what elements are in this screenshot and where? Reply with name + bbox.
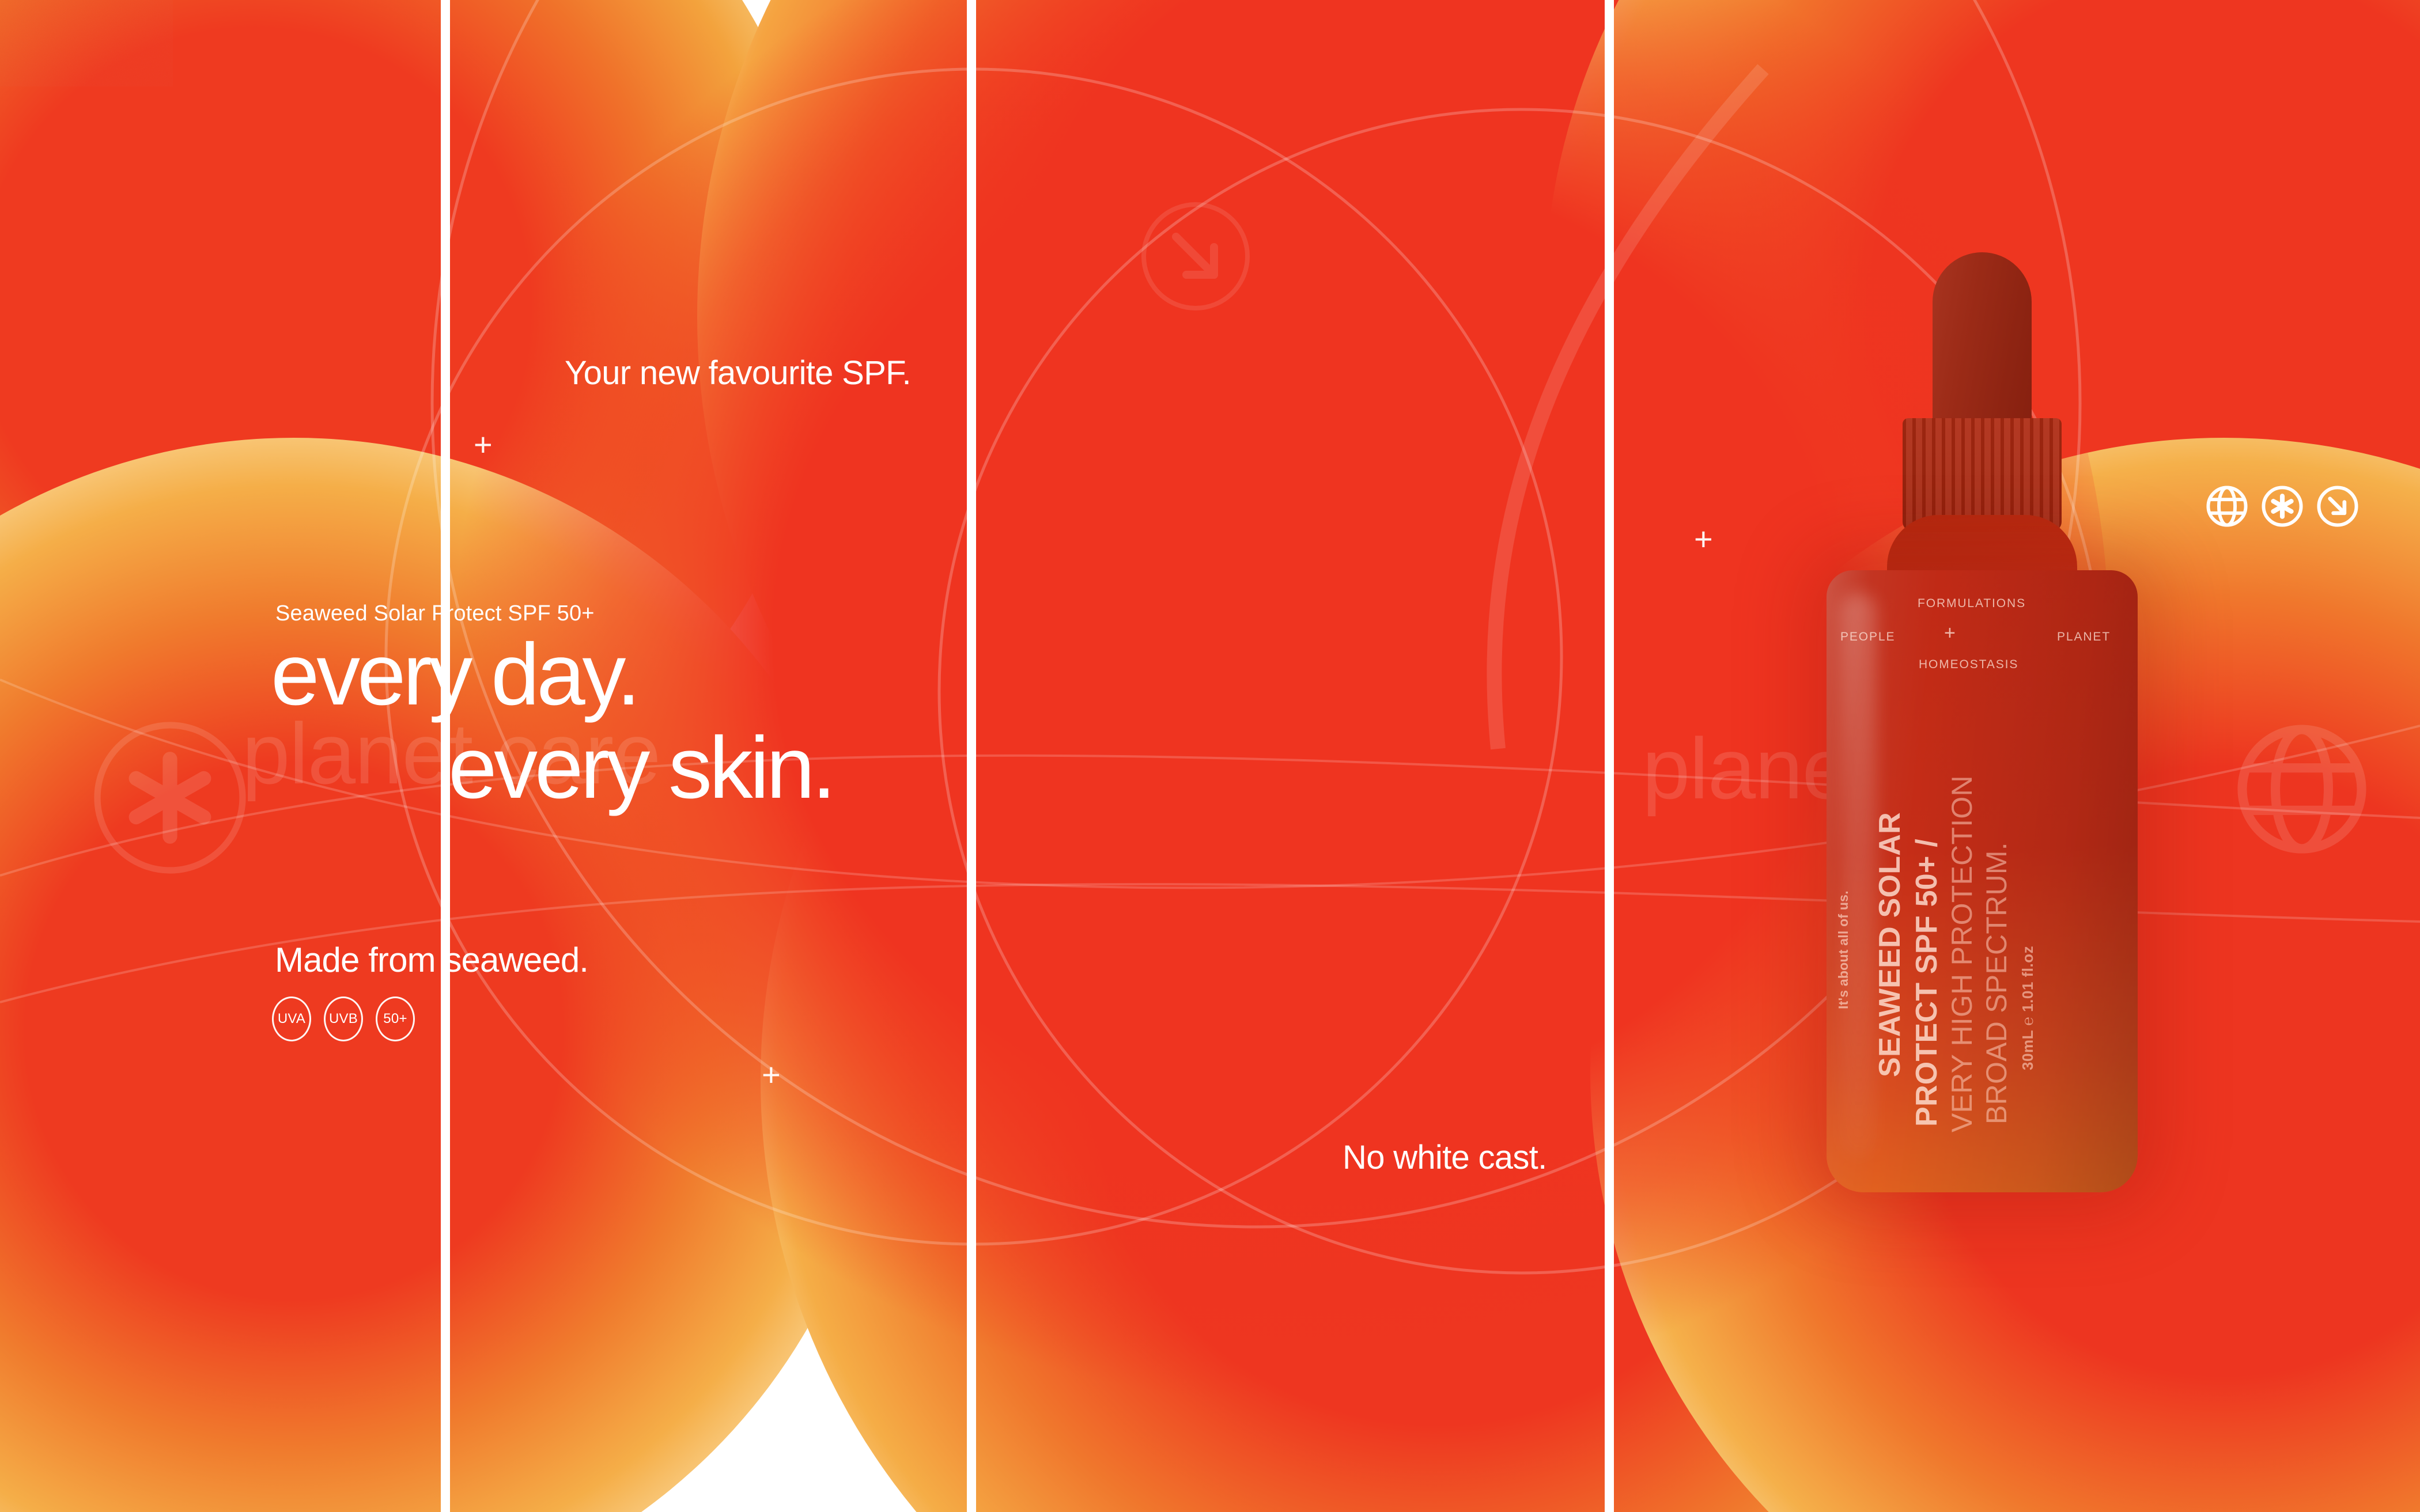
tagline-top-right: Your new favourite SPF. <box>565 354 911 392</box>
poster-canvas: planet care planet care <box>0 0 2420 1512</box>
asterisk-icon[interactable] <box>2261 485 2304 528</box>
hero-line-1: every day. <box>271 629 638 721</box>
hero-line-2: every skin. <box>448 722 833 814</box>
panel-gutter-2 <box>967 0 976 1512</box>
arrow-down-right-icon[interactable] <box>2316 485 2359 528</box>
globe-icon[interactable] <box>2206 485 2248 528</box>
icon-cluster <box>2206 485 2359 528</box>
plus-mark-1: + <box>474 429 493 461</box>
tagline-made-from-seaweed: Made from seaweed. <box>275 940 588 980</box>
tagline-no-white-cast: No white cast. <box>1343 1138 1547 1177</box>
background-gradient-field <box>0 0 2420 1512</box>
plus-mark-2: + <box>762 1059 781 1091</box>
badge-uvb[interactable]: UVB <box>324 996 363 1041</box>
spf-badge-group: UVA UVB 50+ <box>272 996 415 1041</box>
badge-uva[interactable]: UVA <box>272 996 311 1041</box>
badge-uva-label: UVA <box>278 1011 305 1027</box>
badge-uvb-label: UVB <box>329 1011 358 1027</box>
badge-spf50[interactable]: 50+ <box>376 996 415 1041</box>
badge-spf50-label: 50+ <box>383 1011 407 1027</box>
plus-mark-3: + <box>1694 523 1713 555</box>
product-eyebrow: Seaweed Solar Protect SPF 50+ <box>275 601 595 626</box>
panel-gutter-3 <box>1605 0 1614 1512</box>
